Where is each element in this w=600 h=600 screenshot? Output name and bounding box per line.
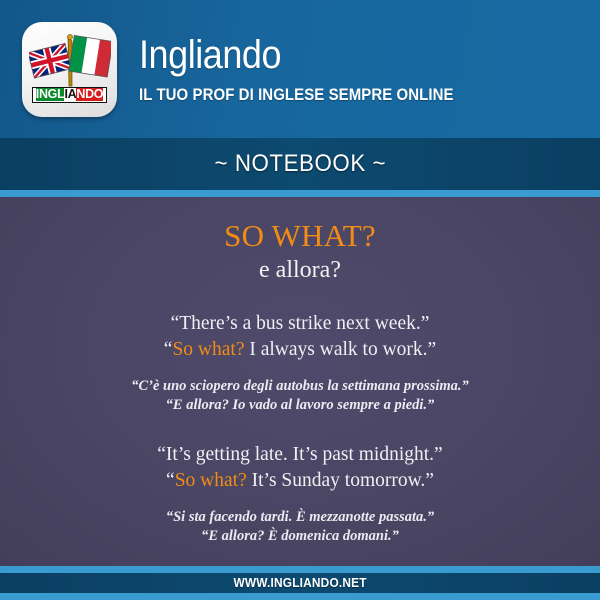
brand-tagline: IL TUO PROF DI INGLESE SEMPRE ONLINE [139,85,454,105]
example-it-line: “C’è uno sciopero degli autobus la setti… [0,377,600,397]
example-en-line: “So what? It’s Sunday tomorrow.” [0,468,600,494]
logo-badge-part-2: IA [64,88,76,101]
notebook-banner: ~ NOTEBOOK ~ [0,138,600,190]
example-en-line: “There’s a bus strike next week.” [0,311,600,337]
app-logo[interactable]: INGLIANDO [22,22,117,117]
brand-title: Ingliando [139,34,461,76]
lesson-subtitle: e allora? [0,257,600,285]
site-header: INGLIANDO Ingliando IL TUO PROF DI INGLE… [0,0,600,138]
footer-top-stripe [0,566,600,573]
uk-italy-flags-icon [29,32,111,88]
site-footer: WWW.INGLIANDO.NET [0,573,600,593]
lesson-body: SO WHAT? e allora? “There’s a bus strike… [0,197,600,566]
example-it-block: “Si sta facendo tardi. È mezzanotte pass… [0,508,600,547]
footer-website-link[interactable]: WWW.INGLIANDO.NET [233,576,366,590]
page-root: INGLIANDO Ingliando IL TUO PROF DI INGLE… [0,0,600,600]
en-highlight: So what? [175,470,247,491]
en-prefix: “There’s a bus strike next week.” [171,313,430,334]
example-it-line: “Si sta facendo tardi. È mezzanotte pass… [0,508,600,528]
en-prefix: “ [166,470,175,491]
example-it-line: “E allora? È domenica domani.” [0,527,600,547]
example-block: “It’s getting late. It’s past midnight.”… [0,442,600,547]
example-en-line: “So what? I always walk to work.” [0,337,600,363]
en-suffix: It’s Sunday tomorrow.” [247,470,434,491]
logo-badge: INGLIANDO [32,87,107,103]
footer-bottom-stripe [0,593,600,600]
notebook-banner-title: ~ NOTEBOOK ~ [214,150,386,178]
example-it-block: “C’è uno sciopero degli autobus la setti… [0,377,600,416]
en-prefix: “It’s getting late. It’s past midnight.” [157,444,442,465]
brand-block: Ingliando IL TUO PROF DI INGLESE SEMPRE … [139,34,497,105]
lesson-title: SO WHAT? [0,219,600,253]
banner-bottom-stripe [0,190,600,197]
example-en-line: “It’s getting late. It’s past midnight.” [0,442,600,468]
example-it-line: “E allora? Io vado al lavoro sempre a pi… [0,396,600,416]
logo-badge-part-3: NDO [76,88,103,101]
en-highlight: So what? [172,339,244,360]
logo-badge-part-1: INGL [36,88,65,101]
example-block: “There’s a bus strike next week.” “So wh… [0,311,600,416]
en-suffix: I always walk to work.” [244,339,436,360]
